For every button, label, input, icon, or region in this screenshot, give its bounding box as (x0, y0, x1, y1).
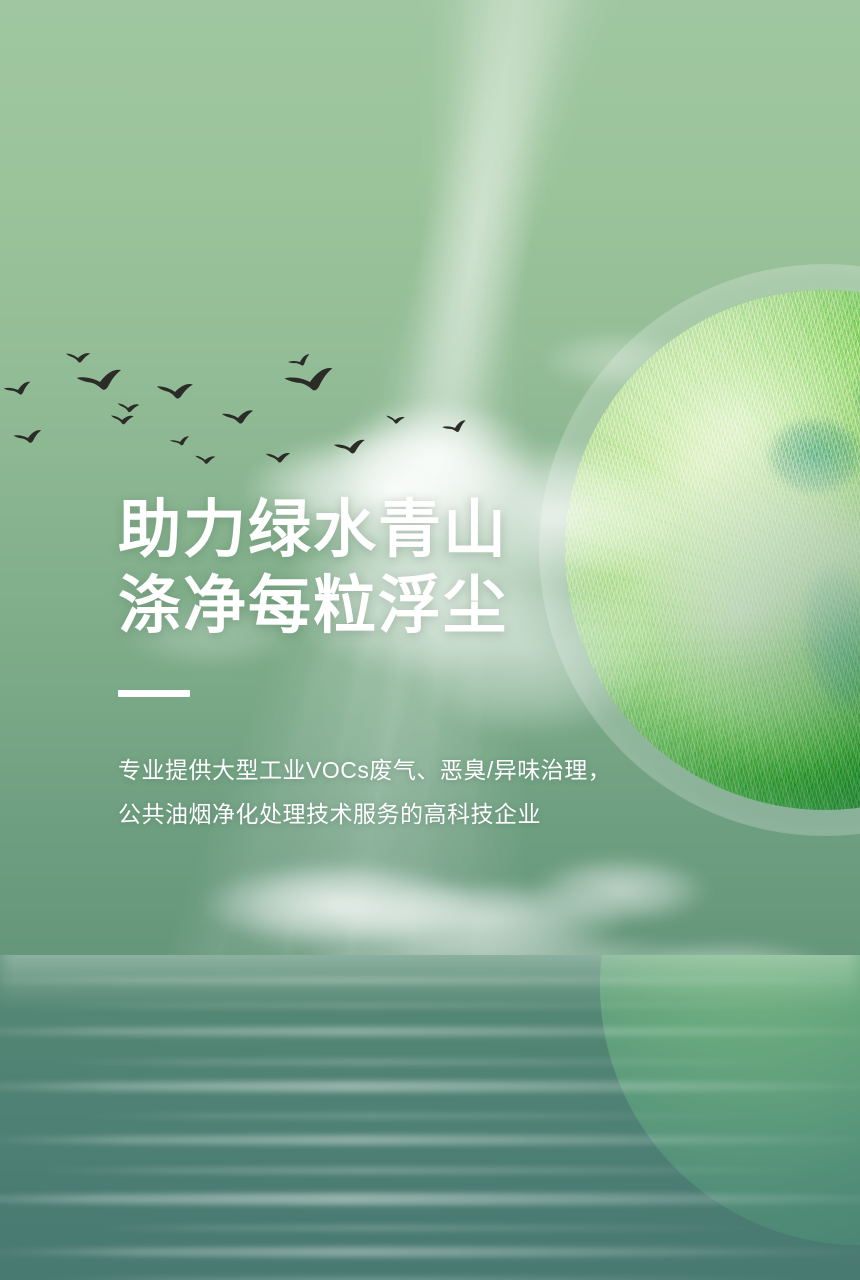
hero-text-block: 助力绿水青山 涤净每粒浮尘 专业提供大型工业VOCs废气、恶臭/异味治理， 公共… (118, 492, 718, 833)
bird-icon (222, 410, 253, 423)
flying-birds-flock (0, 330, 520, 470)
bird-icon (194, 453, 215, 465)
bird-icon (156, 382, 193, 399)
headline-line-2: 涤净每粒浮尘 (118, 568, 718, 644)
bird-icon (284, 368, 335, 394)
bird-icon (265, 451, 290, 463)
subtitle-line-2: 公共油烟净化处理技术服务的高科技企业 (118, 795, 718, 833)
subtitle-line-1: 专业提供大型工业VOCs废气、恶臭/异味治理， (118, 751, 718, 789)
bird-icon (287, 354, 311, 369)
bird-icon (385, 414, 405, 426)
bird-icon (76, 370, 122, 392)
bird-icon (334, 440, 366, 455)
headline-line-1: 助力绿水青山 (118, 492, 718, 568)
bird-icon (65, 351, 90, 364)
bird-icon (442, 420, 468, 434)
headline-divider (118, 690, 190, 697)
bird-icon (3, 382, 32, 397)
water-horizon-mist (0, 955, 860, 1007)
water-surface (0, 955, 860, 1280)
bird-icon (170, 436, 190, 446)
bird-icon (13, 430, 42, 444)
bird-icon (116, 401, 139, 414)
water-ripple (0, 1247, 860, 1257)
eco-hero-poster: 助力绿水青山 涤净每粒浮尘 专业提供大型工业VOCs废气、恶臭/异味治理， 公共… (0, 0, 860, 1280)
bird-icon (110, 413, 134, 426)
water-ripple (81, 1225, 779, 1231)
